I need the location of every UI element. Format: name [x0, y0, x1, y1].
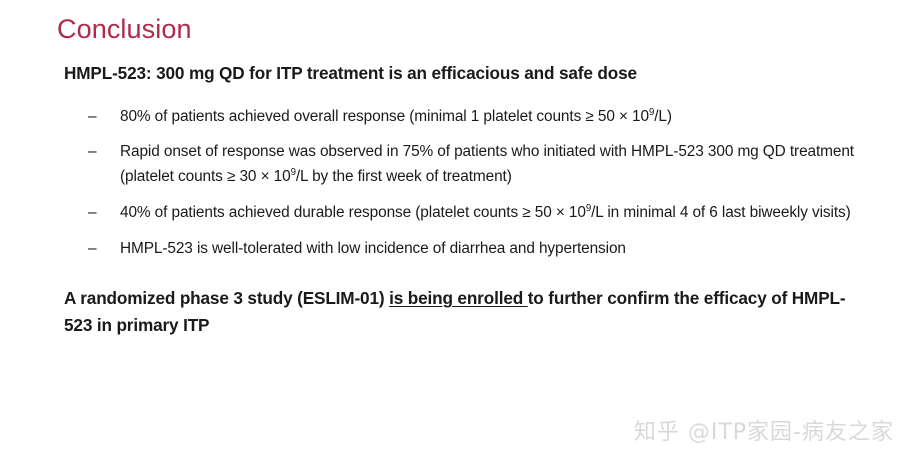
list-item-text-suffix: /L)	[654, 108, 672, 125]
list-item-text-prefix: 80% of patients achieved overall respons…	[120, 108, 649, 125]
conclusion-bullet-list: – 80% of patients achieved overall respo…	[0, 105, 917, 263]
list-item-text: Rapid onset of response was observed in …	[120, 140, 865, 190]
list-item-text-prefix: 40% of patients achieved durable respons…	[120, 204, 586, 221]
bullet-dash-icon: –	[88, 201, 102, 226]
list-item-text: HMPL-523 is well-tolerated with low inci…	[120, 237, 865, 262]
list-item-text: 80% of patients achieved overall respons…	[120, 105, 865, 130]
bullet-dash-icon: –	[88, 237, 102, 262]
list-item: – Rapid onset of response was observed i…	[0, 140, 917, 190]
list-item-text-suffix: /L in minimal 4 of 6 last biweekly visit…	[591, 204, 851, 221]
bullet-dash-icon: –	[88, 105, 102, 130]
lead-heading: HMPL-523: 300 mg QD for ITP treatment is…	[64, 63, 917, 85]
bullet-dash-icon: –	[88, 140, 102, 165]
list-item-text-prefix: HMPL-523 is well-tolerated with low inci…	[120, 240, 626, 257]
presentation-slide: Conclusion HMPL-523: 300 mg QD for ITP t…	[0, 0, 917, 464]
list-item-text: 40% of patients achieved durable respons…	[120, 201, 865, 226]
closing-part-one: A randomized phase 3 study (ESLIM-01)	[64, 288, 389, 308]
slide-body: HMPL-523: 300 mg QD for ITP treatment is…	[0, 63, 917, 339]
closing-statement: A randomized phase 3 study (ESLIM-01) is…	[64, 285, 854, 338]
list-item-text-suffix: /L by the first week of treatment)	[296, 168, 512, 185]
list-item: – 80% of patients achieved overall respo…	[0, 105, 917, 130]
page-title: Conclusion	[57, 14, 192, 45]
list-item: – HMPL-523 is well-tolerated with low in…	[0, 237, 917, 262]
list-item: – 40% of patients achieved durable respo…	[0, 201, 917, 226]
closing-underlined-phrase: is being enrolled	[389, 288, 528, 308]
zhihu-watermark: 知乎 @ITP家园-病友之家	[634, 414, 894, 446]
